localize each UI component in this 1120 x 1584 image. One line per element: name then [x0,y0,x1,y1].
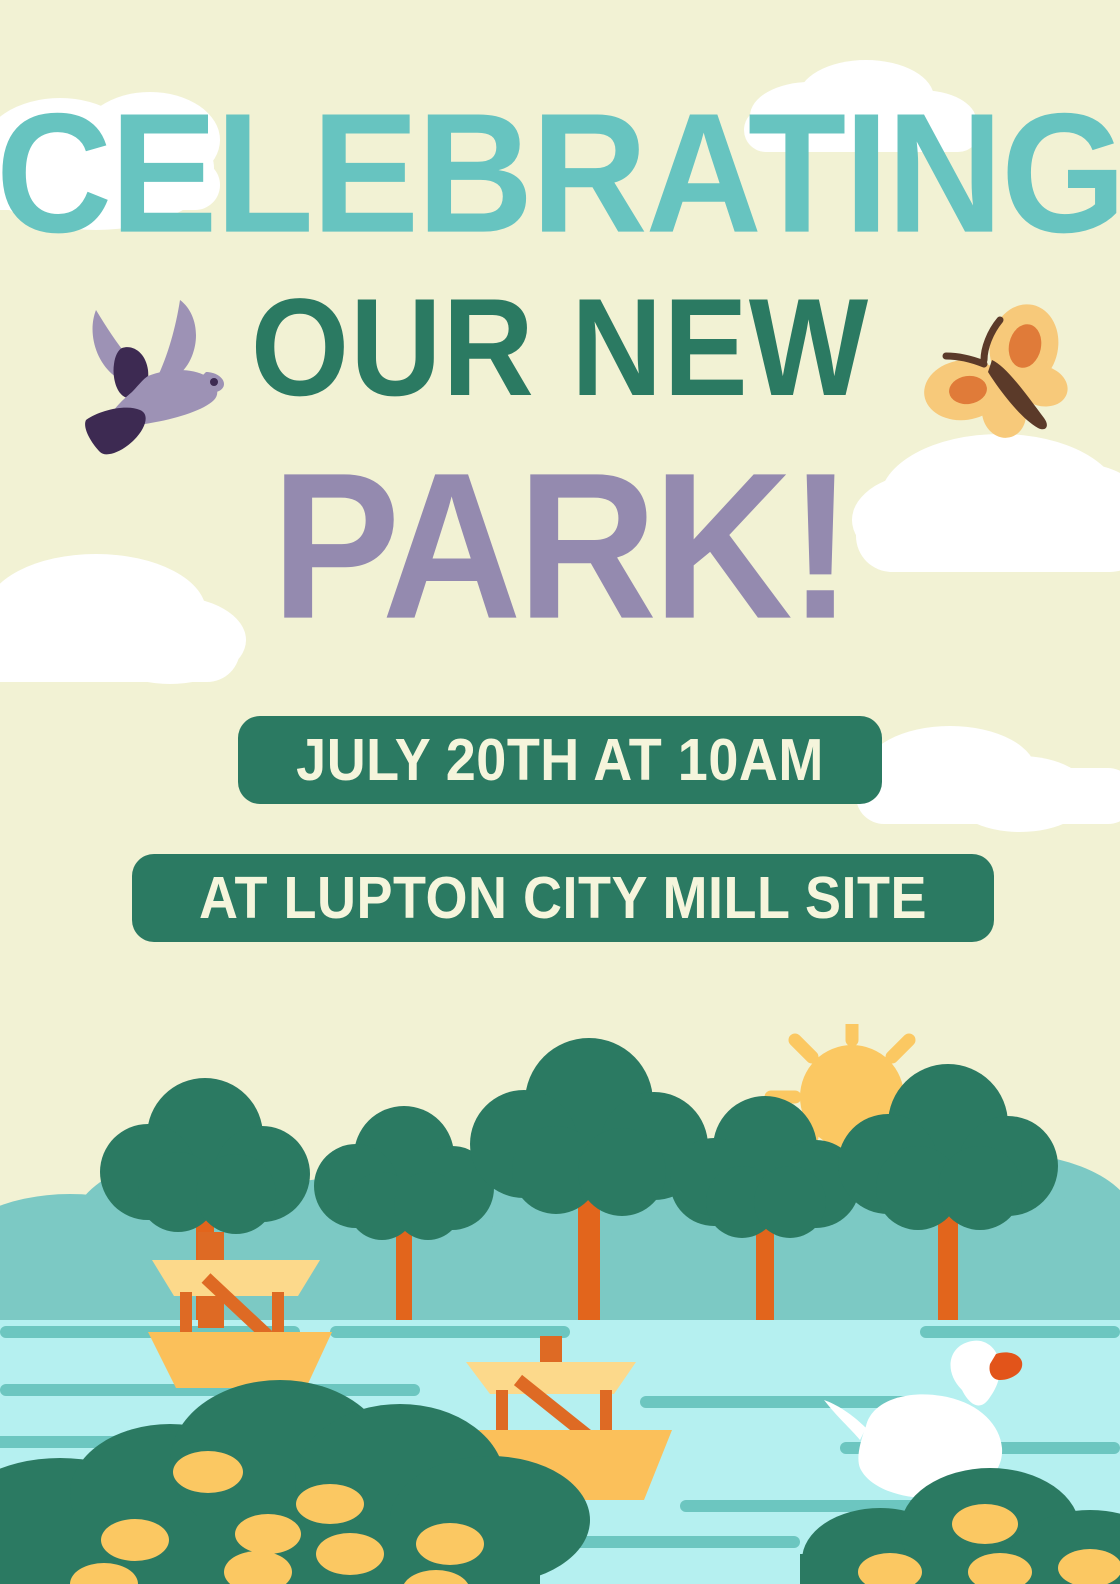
butterfly-illustration [912,302,1072,452]
boat-hull [148,1332,332,1388]
boat-roof [152,1260,320,1296]
bird-eye [210,378,218,386]
boat-roof [466,1362,636,1394]
event-location-text: AT LUPTON CITY MILL SITE [199,864,927,932]
event-date-text: JULY 20TH AT 10AM [296,726,824,794]
bird-wing-upper [156,300,196,381]
bird-tail [85,408,146,455]
park-scene-illustration [0,1024,1120,1584]
event-date-banner: JULY 20TH AT 10AM [238,716,882,804]
cloud-lower-right [856,726,1120,832]
headline-line-celebrating: CELEBRATING [0,104,1120,244]
headline-line-park: PARK! [0,462,1120,633]
poster-canvas: CELEBRATING OUR NEW PARK! JULY [0,0,1120,1584]
bird-illustration [72,272,232,462]
event-location-banner: AT LUPTON CITY MILL SITE [132,854,994,942]
